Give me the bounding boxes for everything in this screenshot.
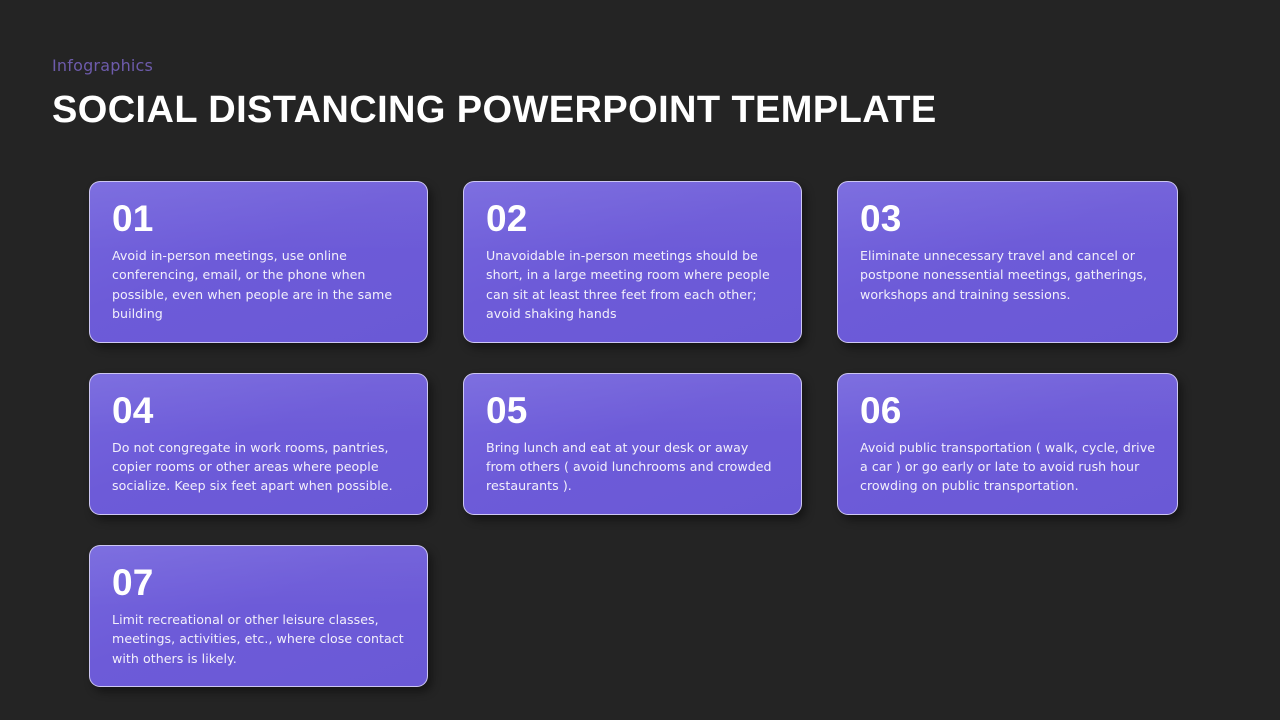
card-description: Do not congregate in work rooms, pantrie… — [112, 438, 407, 496]
card-number: 06 — [860, 390, 1157, 432]
card-04[interactable]: 04 Do not congregate in work rooms, pant… — [89, 373, 428, 515]
card-grid: 01 Avoid in-person meetings, use online … — [89, 181, 1179, 687]
card-05[interactable]: 05 Bring lunch and eat at your desk or a… — [463, 373, 802, 515]
card-02[interactable]: 02 Unavoidable in-person meetings should… — [463, 181, 802, 343]
card-01[interactable]: 01 Avoid in-person meetings, use online … — [89, 181, 428, 343]
card-description: Bring lunch and eat at your desk or away… — [486, 438, 781, 496]
card-number: 04 — [112, 390, 407, 432]
card-03[interactable]: 03 Eliminate unnecessary travel and canc… — [837, 181, 1178, 343]
card-description: Limit recreational or other leisure clas… — [112, 610, 407, 668]
card-description: Avoid in-person meetings, use online con… — [112, 246, 407, 324]
eyebrow-label: Infographics — [52, 56, 1152, 76]
slide-canvas: Infographics SOCIAL DISTANCING POWERPOIN… — [0, 0, 1280, 720]
page-title: SOCIAL DISTANCING POWERPOINT TEMPLATE — [52, 88, 1152, 132]
card-description: Unavoidable in-person meetings should be… — [486, 246, 781, 324]
slide-header: Infographics SOCIAL DISTANCING POWERPOIN… — [52, 56, 1152, 132]
card-description: Avoid public transportation ( walk, cycl… — [860, 438, 1157, 496]
card-06[interactable]: 06 Avoid public transportation ( walk, c… — [837, 373, 1178, 515]
card-07[interactable]: 07 Limit recreational or other leisure c… — [89, 545, 428, 687]
card-number: 05 — [486, 390, 781, 432]
card-number: 02 — [486, 198, 781, 240]
card-number: 07 — [112, 562, 407, 604]
card-number: 03 — [860, 198, 1157, 240]
card-description: Eliminate unnecessary travel and cancel … — [860, 246, 1157, 304]
card-number: 01 — [112, 198, 407, 240]
